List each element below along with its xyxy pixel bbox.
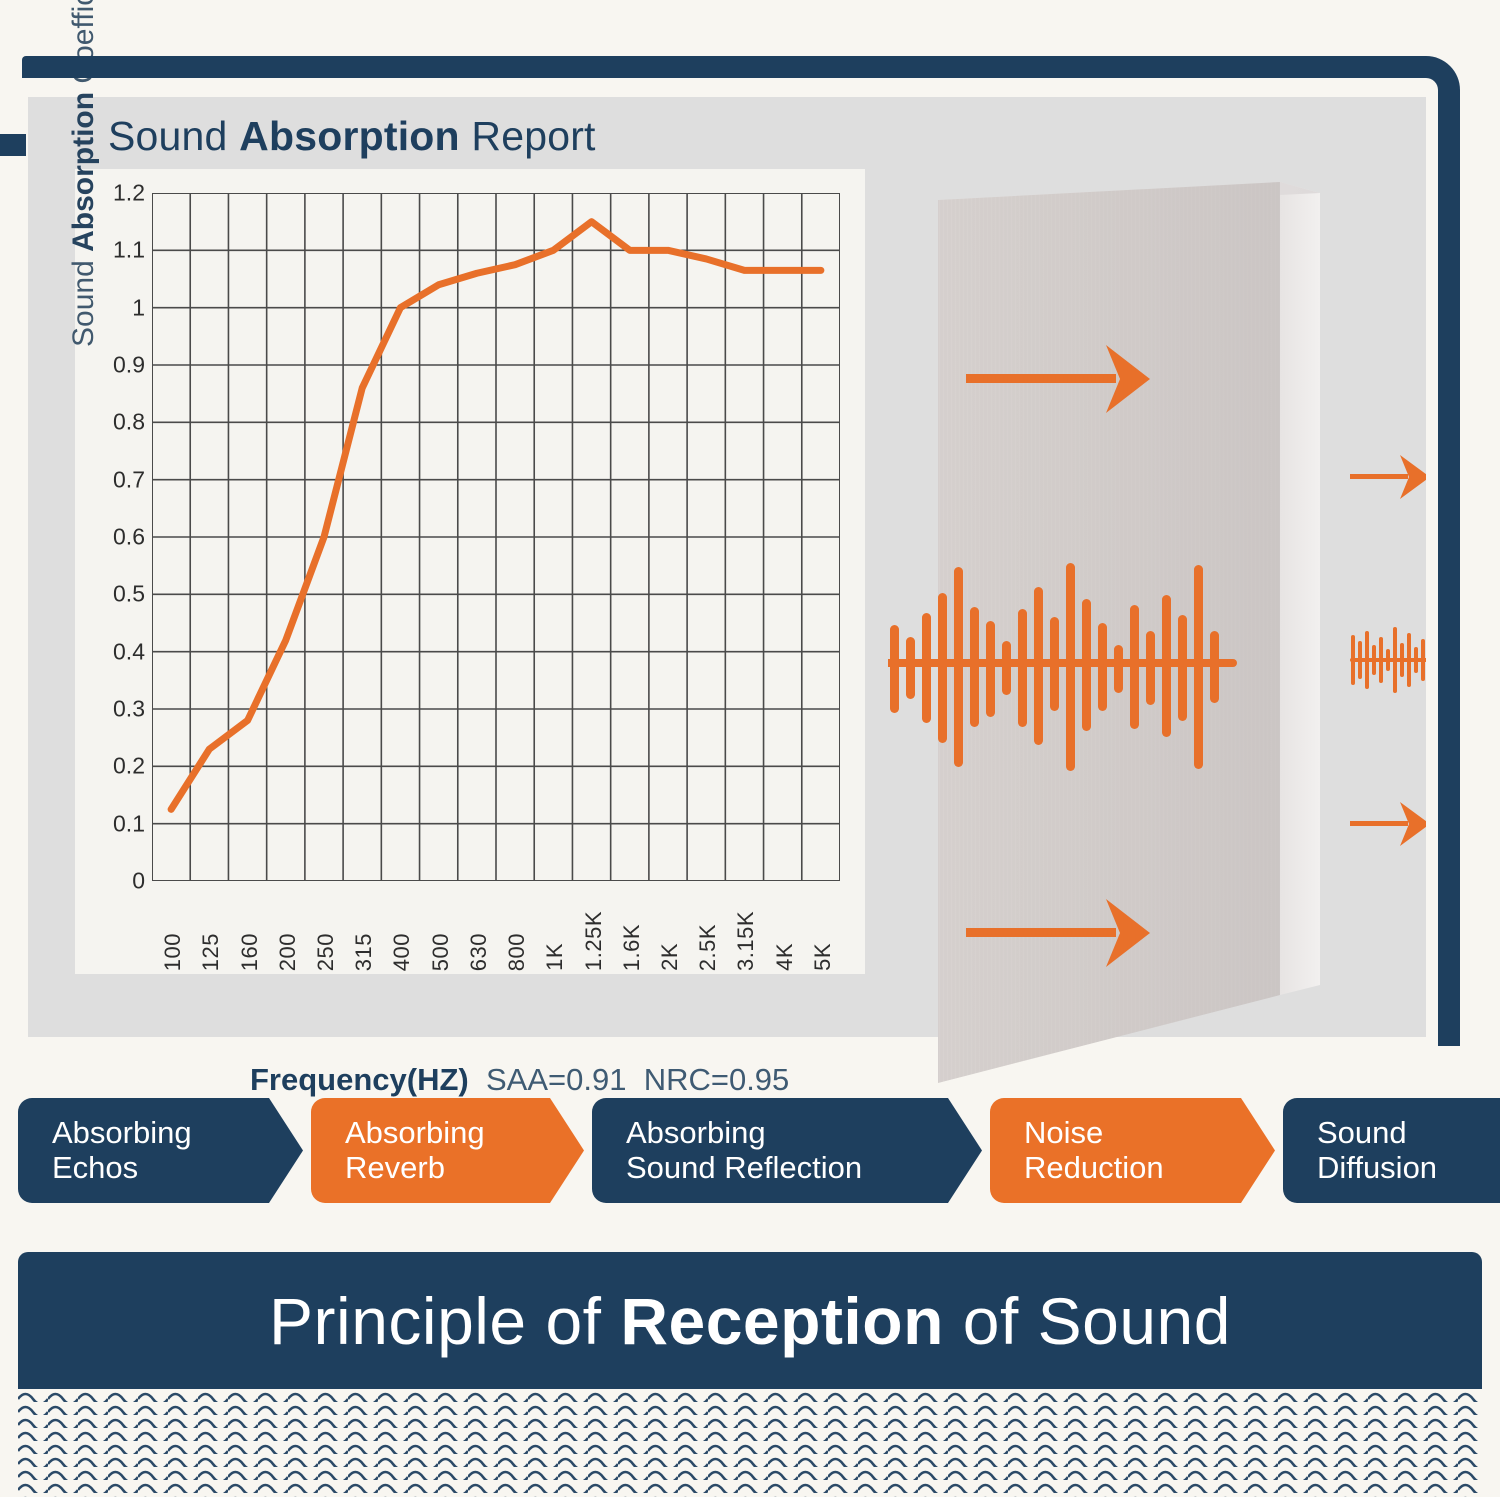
feature-badge: Noise Reduction [990,1098,1275,1203]
feature-badge: Absorbing Sound Reflection [592,1098,982,1203]
plot-area [152,193,840,881]
feature-badge: Absorbing Echos [18,1098,303,1203]
x-tick-label: 100 [160,933,186,971]
x-tick-label: 5K [810,943,836,971]
wave-pattern-svg [18,1389,1482,1497]
feature-badge: Sound Diffusion [1283,1098,1500,1203]
y-tick-label: 0.2 [85,753,145,780]
nrc-value: NRC=0.95 [644,1062,790,1097]
absorption-chart: Sound Absorption Coefficient 1.21.110.90… [75,169,865,974]
title-suffix: Report [460,113,596,159]
x-tick-label: 500 [428,933,454,971]
content-card: Sound Absorption Report Sound Absorption… [0,14,1478,1046]
x-tick-label: 2K [657,943,683,971]
y-tick-label: 0.1 [85,810,145,837]
acoustic-panel-illustration [888,97,1426,1129]
bottom-title: Principle of Reception of Sound [269,1283,1231,1359]
x-tick-label: 125 [198,933,224,971]
arrow-out-bottom-icon [1350,802,1426,846]
badge-gap [1275,1098,1283,1203]
y-tick-label: 0.3 [85,696,145,723]
x-tick-label: 160 [237,933,263,971]
sound-absorption-report-panel: Sound Absorption Report Sound Absorption… [28,97,1426,1037]
panel-side-edge [1280,182,1320,995]
feature-badge: Absorbing Reverb [311,1098,584,1203]
x-tick-label: 2.5K [695,924,721,971]
banner-prefix: Principle of [269,1284,620,1358]
x-axis-tick-labels: 1001251602002503154005006308001K1.25K1.6… [152,887,840,971]
y-tick-label: 1.1 [85,237,145,264]
feature-badge-strip: Absorbing EchosAbsorbing ReverbAbsorbing… [18,1098,1482,1203]
bottom-title-banner: Principle of Reception of Sound [18,1252,1482,1389]
y-tick-label: 0.8 [85,409,145,436]
wave-fill [18,1389,1482,1497]
y-tick-label: 0.5 [85,581,145,608]
x-tick-label: 1K [542,943,568,971]
y-tick-label: 1.2 [85,180,145,207]
chart-footer: Frequency(HZ) SAA=0.91 NRC=0.95 [250,1062,789,1098]
title-bold: Absorption [239,113,460,159]
y-tick-label: 1 [85,294,145,321]
y-axis-tick-labels: 1.21.110.90.80.70.60.50.40.30.20.10 [75,193,145,881]
badge-gap [303,1098,311,1203]
x-axis-title: Frequency(HZ) [250,1062,469,1097]
banner-suffix: of Sound [944,1284,1231,1358]
y-tick-label: 0.9 [85,352,145,379]
x-tick-label: 200 [275,933,301,971]
y-tick-label: 0.4 [85,638,145,665]
x-tick-label: 400 [389,933,415,971]
plot-svg [152,193,840,881]
panel-svg [888,97,1426,1129]
sound-waveform-small-icon [1350,627,1426,693]
x-tick-label: 800 [504,933,530,971]
x-tick-label: 3.15K [733,911,759,971]
badge-gap [982,1098,990,1203]
y-axis-suffix: Coefficient [67,0,100,92]
x-tick-label: 250 [313,933,339,971]
wave-pattern-texture [18,1389,1482,1497]
badge-gap [584,1098,592,1203]
title-prefix: Sound [108,113,239,159]
x-tick-label: 4K [772,943,798,971]
x-tick-label: 630 [466,933,492,971]
saa-value: SAA=0.91 [486,1062,626,1097]
x-tick-label: 1.6K [619,924,645,971]
y-tick-label: 0.7 [85,466,145,493]
y-tick-label: 0.6 [85,524,145,551]
banner-bold: Reception [620,1284,944,1358]
page-title: Sound Absorption Report [108,113,596,160]
x-tick-label: 315 [351,933,377,971]
arrow-out-top-icon [1350,455,1426,499]
y-tick-label: 0 [85,868,145,895]
x-tick-label: 1.25K [581,911,607,971]
